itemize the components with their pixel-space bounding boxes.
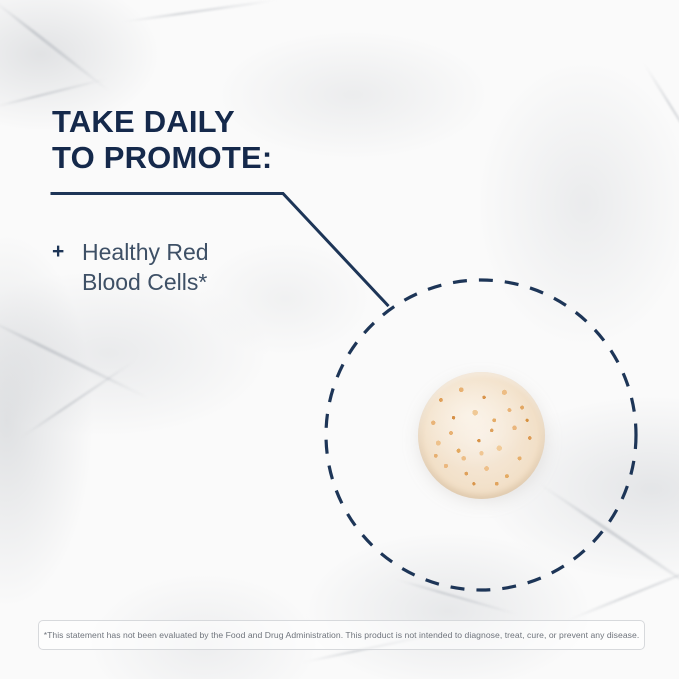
benefit-item: + Healthy Red Blood Cells* bbox=[52, 237, 209, 297]
plus-icon: + bbox=[52, 237, 82, 267]
product-benefit-graphic: TAKE DAILY TO PROMOTE: + Healthy Red Blo… bbox=[0, 0, 679, 679]
round-tablet bbox=[418, 372, 545, 499]
disclaimer-box: *This statement has not been evaluated b… bbox=[38, 620, 645, 650]
tablet-rim bbox=[418, 372, 545, 499]
disclaimer-text: *This statement has not been evaluated b… bbox=[44, 630, 640, 640]
marble-veining bbox=[0, 0, 679, 679]
benefit-label: Healthy Red Blood Cells* bbox=[82, 237, 209, 297]
headline: TAKE DAILY TO PROMOTE: bbox=[52, 104, 272, 176]
